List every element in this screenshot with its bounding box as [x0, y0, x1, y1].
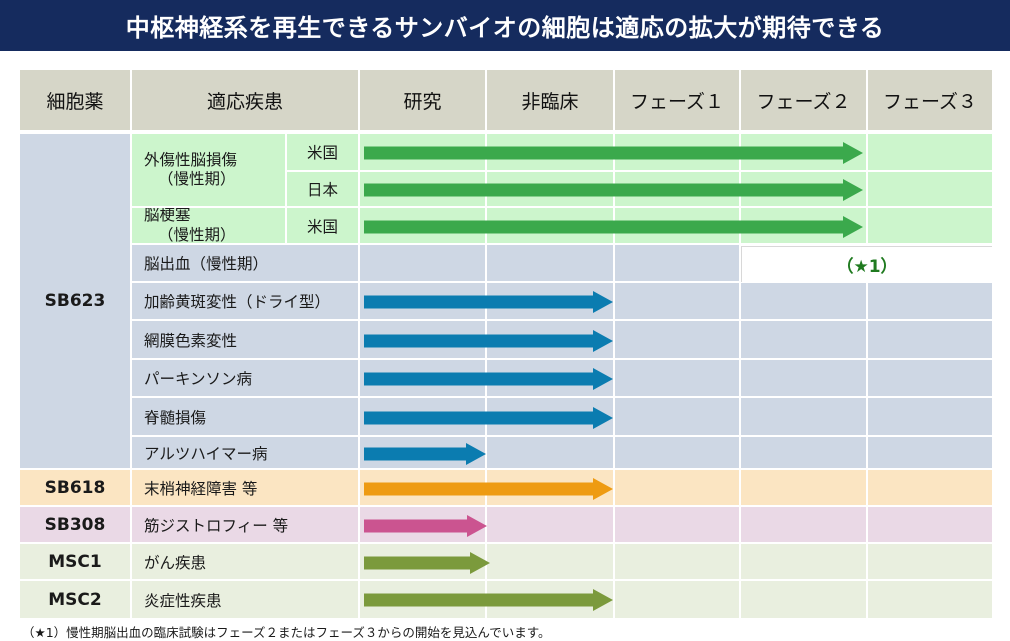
disease-cell-parkinson: パーキンソン病 — [132, 360, 360, 398]
phase-cell — [741, 208, 868, 245]
phase-cell — [487, 437, 615, 470]
phase-cell — [868, 544, 992, 581]
drug-cell-sb308: SB308 — [20, 507, 132, 544]
disease-label-line1: 脳梗塞 — [144, 208, 191, 226]
phase-cell — [868, 581, 992, 618]
phase-cell — [741, 360, 868, 398]
phase-cell — [487, 398, 615, 437]
column-header-nonclinical: 非臨床 — [487, 70, 615, 132]
phase-cell — [741, 172, 868, 208]
phase-cell — [868, 470, 992, 507]
phase-cell — [487, 581, 615, 618]
title-bar: 中枢神経系を再生できるサンバイオの細胞は適応の拡大が期待できる — [0, 0, 1010, 51]
table-row-parkinson: パーキンソン病 — [20, 360, 992, 398]
phase-cell — [615, 398, 741, 437]
footnote: （★1）慢性期脳出血の臨床試験はフェーズ２またはフェーズ３からの開始を見込んでい… — [22, 622, 551, 641]
column-header-phase1: フェーズ１ — [615, 70, 741, 132]
table-row-tbi-us: 外傷性脳損傷 （慢性期） 米国 — [20, 134, 992, 172]
phase-cell — [741, 283, 868, 321]
phase-cell — [615, 360, 741, 398]
phase-cell — [360, 544, 487, 581]
region-cell-jp: 日本 — [287, 172, 360, 208]
drug-cell-msc2: MSC2 — [20, 581, 132, 618]
table-row-amd: 加齢黄斑変性（ドライ型） — [20, 283, 992, 321]
table-row-tbi-jp: 日本 — [20, 172, 992, 208]
phase-cell — [360, 283, 487, 321]
column-header-drug: 細胞薬 — [20, 70, 132, 132]
drug-cell-msc1: MSC1 — [20, 544, 132, 581]
phase-cell — [615, 581, 741, 618]
phase-cell — [487, 172, 615, 208]
phase-cell — [868, 437, 992, 470]
phase-cell — [360, 172, 487, 208]
column-header-research: 研究 — [360, 70, 487, 132]
phase-cell — [360, 208, 487, 245]
table-row-alzheimer: アルツハイマー病 — [20, 437, 992, 470]
phase-cell — [868, 398, 992, 437]
region-cell-us: 米国 — [287, 208, 360, 245]
phase-cell — [615, 245, 741, 283]
disease-cell-stroke: 脳梗塞 （慢性期） — [132, 208, 287, 245]
column-header-phase2: フェーズ２ — [741, 70, 868, 132]
phase-cell — [868, 134, 992, 172]
disease-cell-alzheimer: アルツハイマー病 — [132, 437, 360, 470]
phase-cell — [487, 208, 615, 245]
phase-cell — [868, 208, 992, 245]
phase-cell — [615, 172, 741, 208]
phase-cell — [487, 470, 615, 507]
phase-cell — [487, 134, 615, 172]
column-header-phase3: フェーズ３ — [868, 70, 992, 132]
phase-cell — [741, 507, 868, 544]
phase-cell — [741, 398, 868, 437]
phase-cell — [615, 544, 741, 581]
table-row-rp: 網膜色素変性 — [20, 321, 992, 360]
phase-cell — [741, 321, 868, 360]
region-cell-us: 米国 — [287, 134, 360, 172]
table-row-msc2: MSC2 炎症性疾患 — [20, 581, 992, 618]
drug-cell-sb618: SB618 — [20, 470, 132, 507]
column-header-disease: 適応疾患 — [132, 70, 360, 132]
phase-cell — [741, 134, 868, 172]
phase-cell — [615, 437, 741, 470]
table-row-sb308: SB308 筋ジストロフィー 等 — [20, 507, 992, 544]
phase-cell — [741, 470, 868, 507]
note-cell-star1: （★1） — [741, 246, 992, 282]
pipeline-table: 細胞薬 適応疾患 研究 非臨床 フェーズ１ フェーズ２ フェーズ３ SB623 … — [20, 70, 992, 618]
phase-cell — [487, 360, 615, 398]
table-header-row: 細胞薬 適応疾患 研究 非臨床 フェーズ１ フェーズ２ フェーズ３ — [20, 70, 992, 132]
phase-cell — [868, 321, 992, 360]
disease-cell-cancer: がん疾患 — [132, 544, 360, 581]
page-title: 中枢神経系を再生できるサンバイオの細胞は適応の拡大が期待できる — [126, 8, 885, 43]
disease-cell-rp: 網膜色素変性 — [132, 321, 360, 360]
phase-cell — [868, 283, 992, 321]
phase-cell — [741, 437, 868, 470]
disease-label-line1: 外傷性脳損傷 — [144, 151, 237, 170]
phase-cell — [360, 437, 487, 470]
phase-cell — [615, 507, 741, 544]
disease-cell-peripheral-nerve: 末梢神経障害 等 — [132, 470, 360, 507]
phase-cell — [360, 360, 487, 398]
disease-label-line2: （慢性期） — [144, 226, 236, 245]
disease-cell-sci: 脊髄損傷 — [132, 398, 360, 437]
phase-cell — [360, 245, 487, 283]
phase-cell — [360, 398, 487, 437]
table-row-sci: 脊髄損傷 — [20, 398, 992, 437]
phase-cell — [868, 172, 992, 208]
disease-cell-muscular-dystrophy: 筋ジストロフィー 等 — [132, 507, 360, 544]
phase-cell — [360, 134, 487, 172]
phase-cell — [615, 321, 741, 360]
table-row-stroke-us: 脳梗塞 （慢性期） 米国 — [20, 208, 992, 245]
phase-cell — [487, 321, 615, 360]
phase-cell — [615, 283, 741, 321]
phase-cell — [615, 208, 741, 245]
table-row-msc1: MSC1 がん疾患 — [20, 544, 992, 581]
phase-cell — [868, 360, 992, 398]
phase-cell — [615, 470, 741, 507]
phase-cell — [487, 283, 615, 321]
disease-cell-ich: 脳出血（慢性期） — [132, 245, 360, 283]
phase-cell — [487, 245, 615, 283]
phase-cell — [360, 470, 487, 507]
phase-cell — [741, 544, 868, 581]
phase-cell — [360, 581, 487, 618]
phase-cell — [868, 507, 992, 544]
phase-cell — [487, 507, 615, 544]
disease-cell-amd: 加齢黄斑変性（ドライ型） — [132, 283, 360, 321]
phase-cell — [360, 321, 487, 360]
phase-cell — [615, 134, 741, 172]
table-row-ich: 脳出血（慢性期） （★1） — [20, 245, 992, 283]
phase-cell — [487, 544, 615, 581]
table-row-sb618: SB618 末梢神経障害 等 — [20, 470, 992, 507]
phase-cell — [360, 507, 487, 544]
disease-cell-inflammatory: 炎症性疾患 — [132, 581, 360, 618]
phase-cell — [741, 581, 868, 618]
